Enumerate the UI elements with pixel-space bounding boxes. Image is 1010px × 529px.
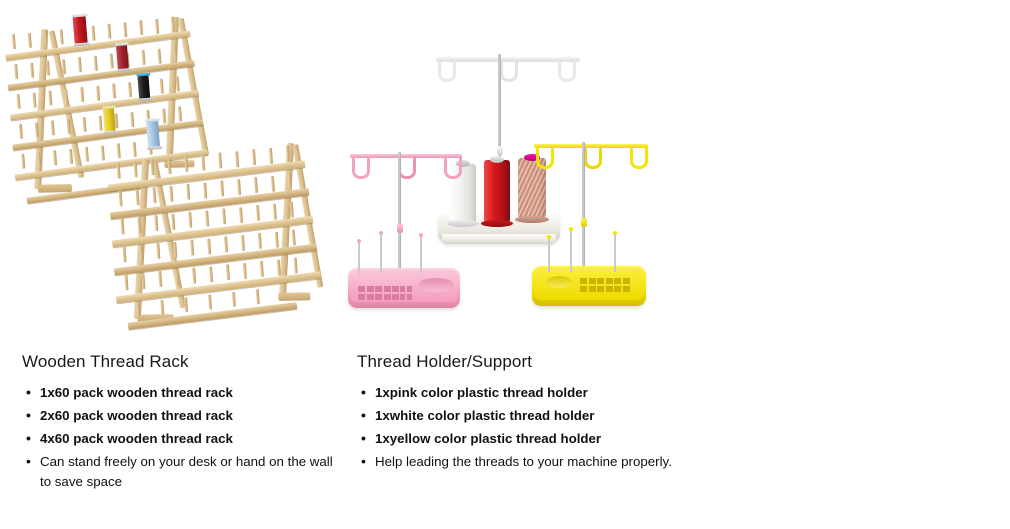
holder-pole (582, 142, 585, 270)
rack-peg (78, 57, 82, 72)
holder-collar (497, 146, 503, 155)
rack-peg (220, 180, 224, 196)
rack-peg (60, 29, 64, 44)
rack-peg (269, 148, 273, 164)
rack-peg (152, 187, 156, 203)
rack-peg (162, 109, 166, 124)
rack-peg (294, 257, 298, 273)
rack-peg (12, 34, 16, 49)
feature-list-thread-holder-support: 1xpink color plastic thread holder 1xwhi… (357, 383, 685, 475)
rack-peg (51, 120, 55, 135)
page-title-wooden-thread-rack: Wooden Thread Rack (22, 352, 189, 372)
rack-peg (188, 212, 192, 228)
base-pin (570, 230, 572, 272)
rack-leg (178, 18, 209, 157)
rack-peg (184, 297, 188, 312)
rack-foot (278, 292, 310, 301)
rack-shelf (8, 60, 195, 90)
rack-peg (124, 274, 128, 290)
rack-peg (178, 106, 182, 121)
thread-spool-light-blue (146, 120, 160, 148)
rack-peg (157, 49, 161, 64)
rack-peg (156, 243, 160, 259)
base-pin (614, 234, 616, 272)
rack-peg (130, 112, 134, 127)
page-title-thread-holder-support: Thread Holder/Support (357, 352, 532, 372)
rack-peg (232, 292, 236, 307)
holder-pole (398, 152, 401, 274)
front-rack (102, 135, 330, 340)
rack-peg (290, 202, 294, 218)
thread-guide-hook (444, 156, 462, 179)
rack-peg (207, 238, 211, 254)
rack-peg (14, 64, 18, 79)
thread-guide-hook (352, 156, 370, 179)
rack-peg (141, 50, 145, 65)
rack-peg (48, 90, 52, 105)
thread-guide-hook (500, 59, 518, 82)
rack-peg (82, 117, 86, 132)
rack-peg (107, 24, 111, 39)
rack-peg (169, 186, 173, 202)
rack-peg (155, 19, 159, 34)
rack-peg (237, 179, 241, 195)
rack-peg (167, 158, 171, 174)
rack-peg (94, 56, 98, 71)
rack-peg (139, 20, 143, 35)
rack-peg (122, 246, 126, 262)
rack-peg (239, 207, 243, 223)
rack-peg (271, 176, 275, 192)
list-item: 1xpink color plastic thread holder (375, 383, 685, 403)
rack-shelf (108, 160, 305, 191)
rack-peg (273, 204, 277, 220)
rack-peg (85, 147, 89, 162)
rack-peg (173, 242, 177, 258)
rack-peg (184, 156, 188, 172)
thread-spool-black (137, 75, 150, 100)
base-pin (380, 234, 382, 274)
thread-guide-hook (584, 146, 602, 169)
yellow-thread-holder (530, 122, 650, 322)
rack-peg (128, 82, 132, 97)
thread-guide-hook (438, 59, 456, 82)
rack-peg (120, 218, 124, 234)
rack-peg (176, 76, 180, 91)
rack-peg (154, 215, 158, 231)
rack-peg (134, 161, 138, 177)
rack-peg (190, 240, 194, 256)
base-slot-grid (400, 286, 412, 300)
rack-peg (123, 22, 127, 37)
list-item: 1xyellow color plastic thread holder (375, 429, 685, 449)
rack-peg (256, 205, 260, 221)
rack-peg (19, 124, 23, 139)
rack-peg (91, 26, 95, 41)
rack-peg (21, 154, 25, 169)
rack-peg (203, 183, 207, 199)
base-slot-grid (358, 286, 399, 300)
rack-peg (254, 177, 258, 193)
pink-thread-holder (346, 132, 464, 324)
rack-peg (112, 83, 116, 98)
rack-peg (53, 150, 57, 165)
rack-peg (201, 155, 205, 171)
rack-peg (171, 214, 175, 230)
holder-collar (581, 218, 587, 227)
rack-peg (241, 235, 245, 251)
thread-holder-image (340, 14, 680, 344)
rack-peg (30, 63, 34, 78)
rack-peg (160, 79, 164, 94)
rack-shelf (5, 30, 190, 60)
rack-peg (158, 271, 162, 287)
list-item: Help leading the threads to your machine… (375, 452, 685, 472)
rack-peg (209, 266, 213, 282)
rack-peg (32, 93, 36, 108)
thread-spool-yellow (103, 108, 116, 133)
rack-peg (205, 210, 209, 226)
list-item: 2x60 pack wooden thread rack (40, 406, 340, 426)
rack-peg (258, 233, 262, 249)
base-oval-well (546, 276, 572, 288)
rack-peg (292, 229, 296, 245)
rack-peg (208, 294, 212, 309)
rack-peg (252, 149, 256, 165)
base-pin (548, 238, 550, 272)
rack-peg (218, 152, 222, 168)
feature-list-wooden-thread-rack: 1x60 pack wooden thread rack 2x60 pack w… (22, 383, 340, 495)
rack-peg (192, 268, 196, 284)
thread-guide-hook (558, 59, 576, 82)
rack-peg (46, 61, 50, 76)
thread-spool-dark-red (116, 44, 129, 70)
holder-collar (397, 224, 403, 233)
rack-peg (160, 300, 164, 315)
red-thread-cone (484, 160, 510, 224)
thread-guide-hook (630, 146, 648, 169)
thread-guide-hook (536, 146, 554, 169)
rack-peg (119, 190, 123, 206)
product-feature-panel: Wooden Thread Rack 1x60 pack wooden thre… (0, 0, 1010, 529)
rack-peg (224, 236, 228, 252)
rack-peg (80, 87, 84, 102)
thread-spool-red (73, 15, 88, 44)
list-item: 1x60 pack wooden thread rack (40, 383, 340, 403)
rack-peg (96, 86, 100, 101)
rack-peg (226, 264, 230, 280)
rack-peg (186, 184, 190, 200)
rack-peg (110, 53, 114, 68)
base-pin (358, 242, 360, 274)
base-oval-well (418, 278, 454, 292)
rack-peg (235, 151, 239, 167)
rack-peg (98, 116, 102, 131)
wooden-thread-rack-image (0, 14, 340, 344)
rack-peg (141, 273, 145, 289)
rack-peg (16, 94, 20, 109)
rack-peg (222, 208, 226, 224)
rack-peg (260, 261, 264, 277)
base-pin (420, 236, 422, 274)
rack-peg (256, 289, 260, 304)
rack-peg (64, 89, 68, 104)
list-item: Can stand freely on your desk or hand on… (40, 452, 340, 492)
rack-peg (117, 163, 121, 179)
rack-peg (135, 189, 139, 205)
rack-peg (28, 33, 32, 48)
list-item: 1xwhite color plastic thread holder (375, 406, 685, 426)
base-slot-grid (580, 278, 630, 292)
rack-peg (243, 263, 247, 279)
list-item: 4x60 pack wooden thread rack (40, 429, 340, 449)
rack-peg (62, 59, 66, 74)
rack-peg (275, 232, 279, 248)
